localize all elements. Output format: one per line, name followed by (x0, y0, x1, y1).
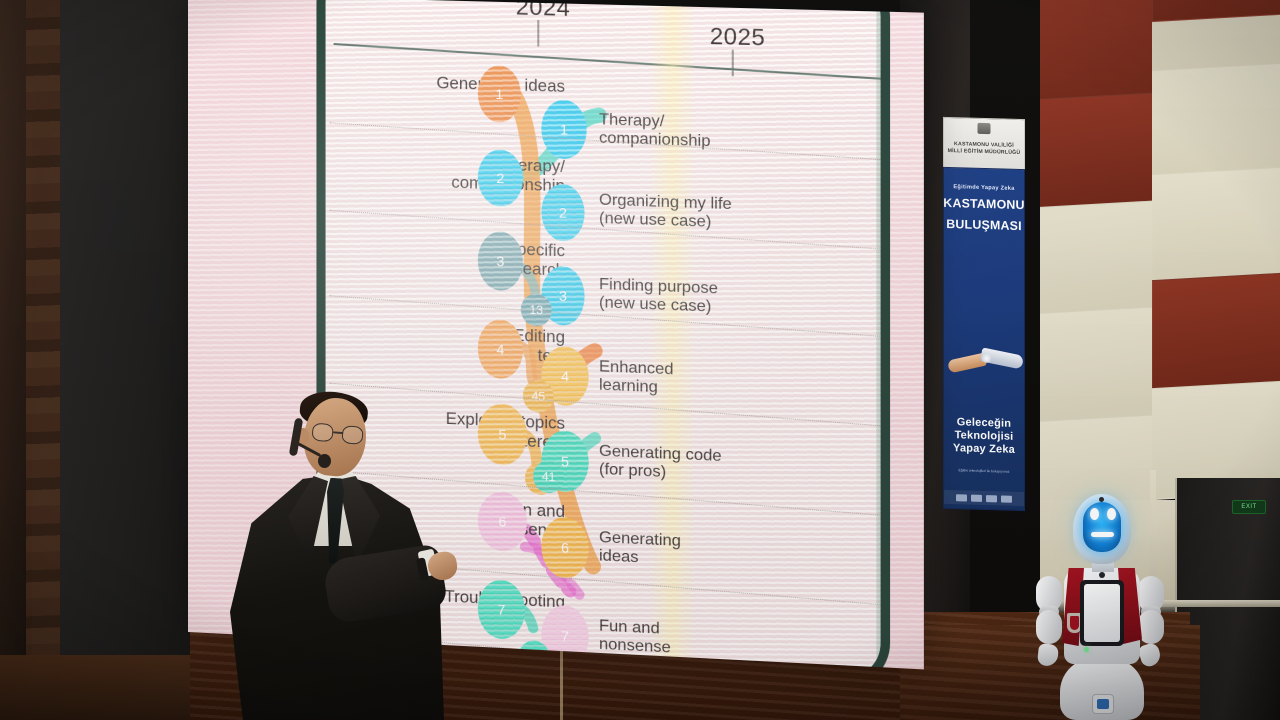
rank-bubble-2024: 5 (478, 403, 527, 466)
rank-bubble-2024: 7 (478, 579, 525, 640)
year-label-2025: 2025 (710, 23, 765, 52)
row-label-2024: Editingtext (381, 321, 565, 366)
row-label-2024: Therapy/companionship (381, 152, 565, 195)
robot-chest-camera-icon (1099, 572, 1105, 578)
left-floor (0, 655, 200, 720)
left-pillar (60, 0, 190, 660)
banner-body: Eğitimde Yapay Zeka KASTAMONU BULUŞMASI … (943, 167, 1025, 511)
rollup-banner: KASTAMONU VALİLİĞİ MİLLİ EĞİTİM MÜDÜRLÜĞ… (943, 117, 1025, 511)
banner-header: KASTAMONU VALİLİĞİ MİLLİ EĞİTİM MÜDÜRLÜĞ… (943, 117, 1025, 171)
robot-face-display (1083, 502, 1121, 552)
service-robot (1026, 494, 1178, 720)
human-robot-handshake-icon (946, 336, 1024, 394)
robot-chest-tablet[interactable] (1080, 580, 1124, 646)
status-led-icon (1084, 647, 1089, 652)
banner-title-line-2: BULUŞMASI (946, 218, 1021, 234)
banner-subtitle-line-3: Yapay Zeka (944, 442, 1024, 457)
exit-sign: EXIT (1232, 500, 1266, 514)
rank-bubble-2024: 2 (478, 149, 523, 207)
presenter (222, 392, 458, 720)
robot-eye-left-icon (1090, 508, 1099, 520)
robot-head-camera-icon (1099, 497, 1104, 502)
banner-title-line-1: KASTAMONU (943, 197, 1024, 213)
year-label-2024: 2024 (516, 0, 571, 22)
institution-emblem-icon (978, 123, 991, 134)
robot-base-badge (1092, 694, 1114, 714)
year-tick-2024 (537, 20, 539, 46)
row-label-2024: Specificsearch (381, 236, 565, 280)
rank-bubble-2024: 4 (478, 319, 523, 379)
rank-bubble-2024: 1 (478, 65, 521, 123)
acoustic-panel-wall (1040, 0, 1280, 520)
rank-bubble-2024: 3 (478, 231, 523, 291)
banner-sponsor-logos (944, 490, 1024, 506)
banner-subtitle: Geleceğin Teknolojisi Yapay Zeka (944, 416, 1024, 457)
row-label-2024: Generating ideas (381, 72, 565, 96)
photo-scene: EXIT KASTAMONU VALİLİĞİ MİLLİ EĞİTİM MÜD… (0, 0, 1280, 720)
robot-arm-left (1036, 576, 1062, 650)
robot-hand-left (1037, 643, 1059, 667)
banner-fine-print: Eğitim teknolojileri ile buluşuyoruz (944, 468, 1024, 475)
banner-eyebrow: Eğitimde Yapay Zeka (953, 184, 1014, 192)
microphone-icon (318, 454, 331, 468)
robot-mouth-icon (1091, 532, 1114, 537)
robot-eye-right-icon (1107, 508, 1116, 520)
banner-org-line-2: MİLLİ EĞİTİM MÜDÜRLÜĞÜ (948, 148, 1021, 156)
